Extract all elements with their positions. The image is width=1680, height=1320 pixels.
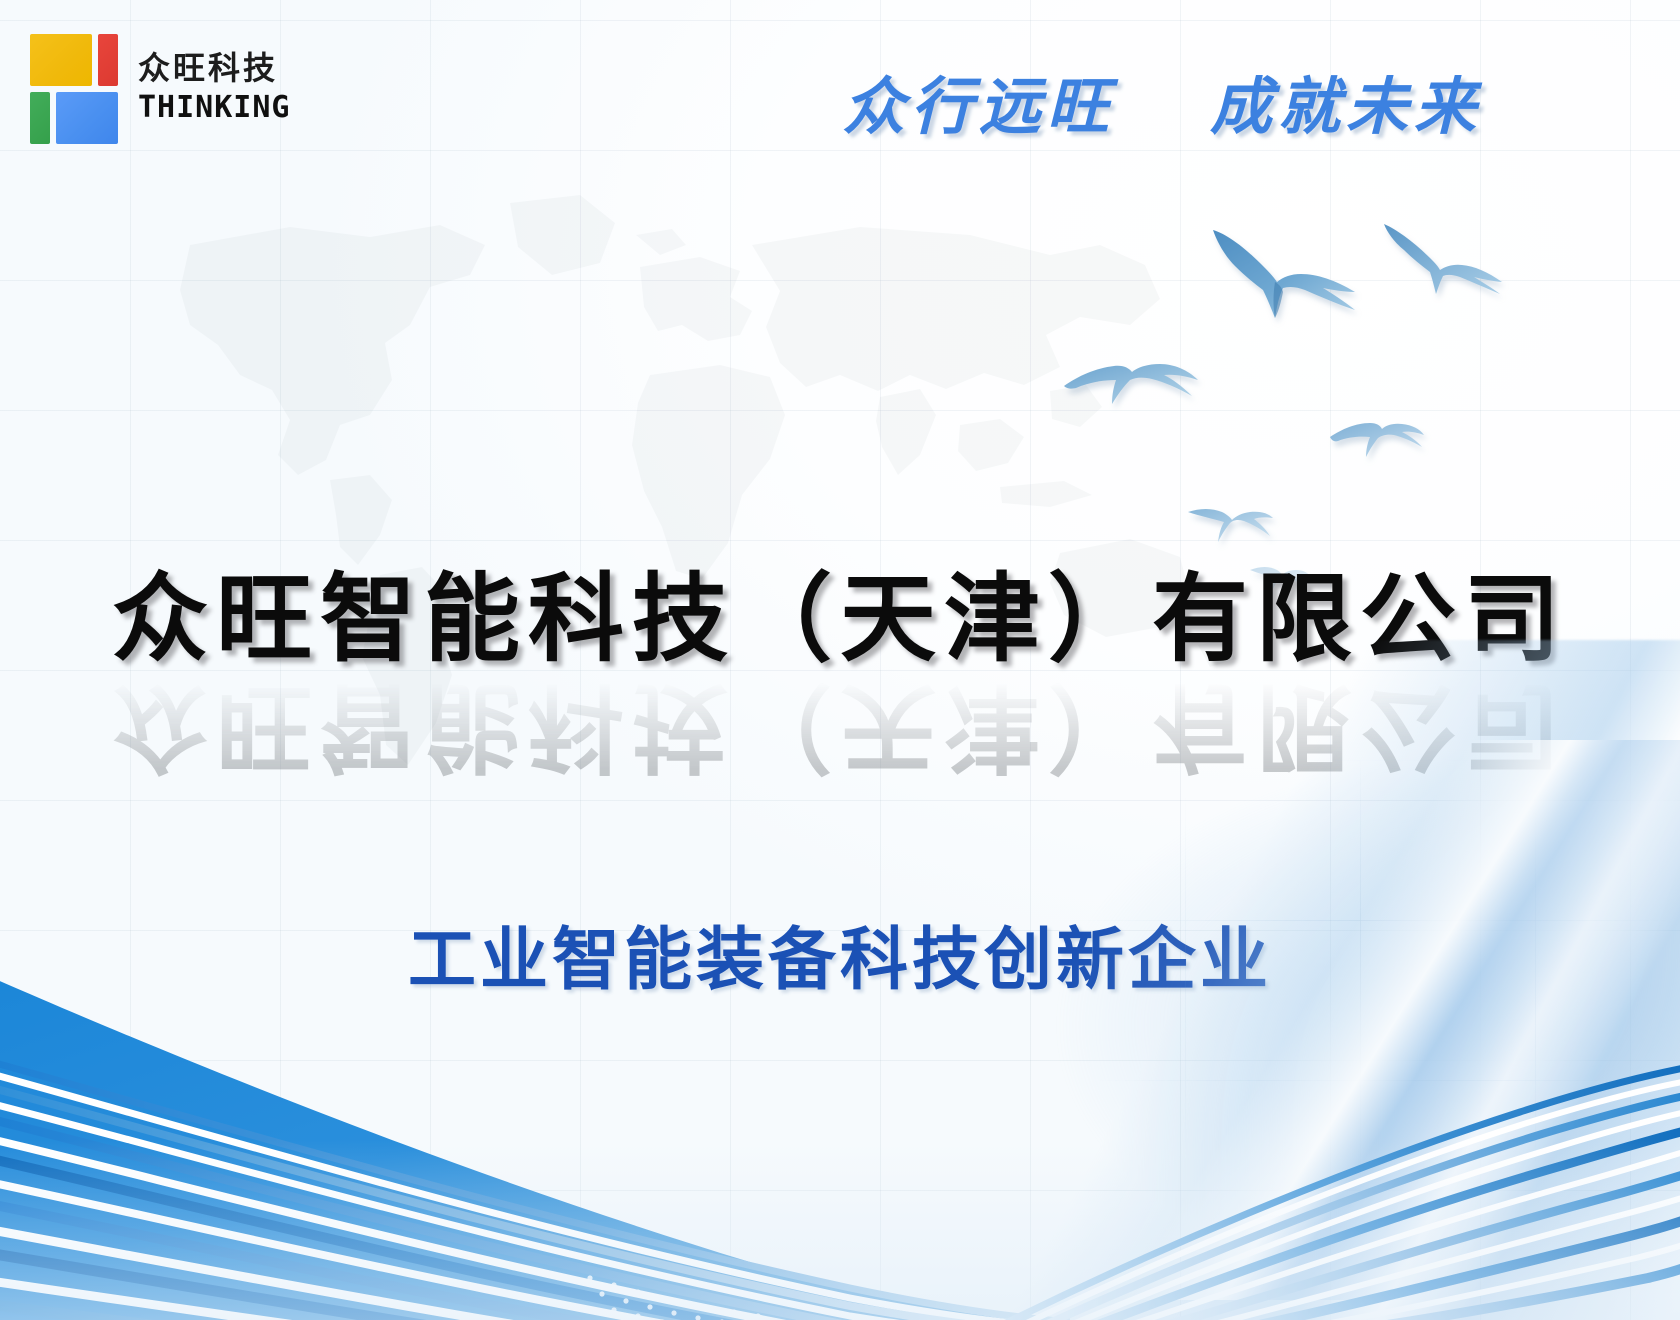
seagull-icon bbox=[1328, 415, 1424, 467]
logo-chinese-name: 众旺科技 bbox=[138, 50, 291, 87]
logo-square-yellow bbox=[30, 34, 92, 86]
tagline-part-2: 成就未来 bbox=[1210, 70, 1482, 143]
page-title: 众旺智能科技（天津）有限公司 bbox=[0, 568, 1680, 672]
logo-wordmark: 众旺科技 THINKING bbox=[138, 44, 291, 127]
seagull-icon bbox=[1062, 356, 1200, 428]
bottom-fade-overlay bbox=[0, 1140, 1680, 1320]
slide-tagline: 众行远旺 成就未来 bbox=[843, 56, 1482, 146]
seagull-icon bbox=[1186, 500, 1274, 548]
seagull-icon bbox=[1205, 222, 1375, 327]
tagline-part-1: 众行远旺 bbox=[843, 70, 1115, 143]
seagull-icon bbox=[1380, 218, 1505, 296]
page-subtitle: 工业智能装备科技创新企业 bbox=[0, 904, 1680, 1003]
logo-square-blue bbox=[56, 92, 118, 144]
right-light-streak bbox=[960, 740, 1680, 1300]
title-block: 众旺智能科技（天津）有限公司 众旺智能科技（天津）有限公司 bbox=[0, 568, 1680, 777]
thinking-four-square-logo-icon bbox=[30, 30, 126, 140]
page-title-reflection: 众旺智能科技（天津）有限公司 bbox=[0, 674, 1680, 778]
logo-english-name: THINKING bbox=[138, 90, 291, 126]
logo-square-red bbox=[98, 34, 118, 86]
company-logo[interactable]: 众旺科技 THINKING bbox=[30, 30, 291, 140]
logo-square-green bbox=[30, 92, 50, 144]
blue-wave-ribbon-right bbox=[960, 1000, 1680, 1320]
presentation-slide: 众旺科技 THINKING 众行远旺 成就未来 bbox=[0, 0, 1680, 1320]
